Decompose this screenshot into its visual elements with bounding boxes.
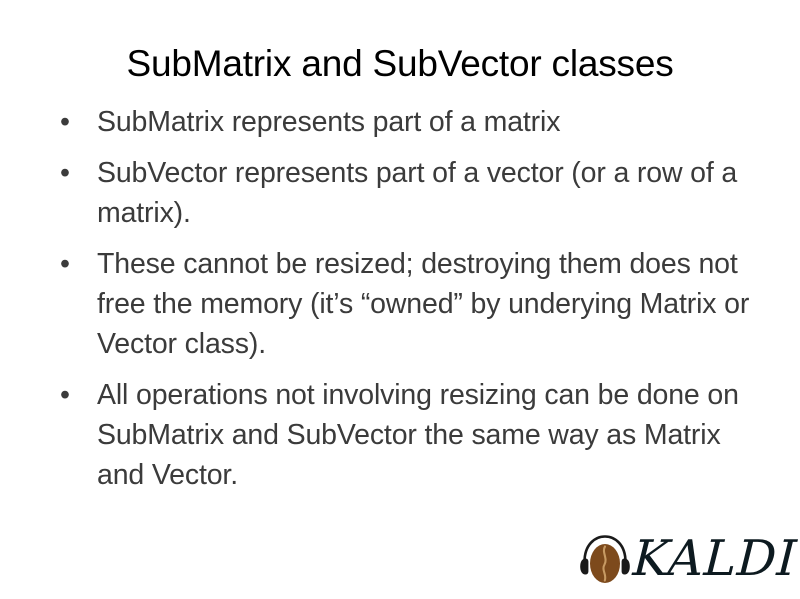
coffee-bean-headphones-icon <box>575 529 635 589</box>
list-item-text: All operations not involving resizing ca… <box>97 375 762 495</box>
bullet-point-icon: • <box>60 153 74 193</box>
presentation-slide: SubMatrix and SubVector classes • SubMat… <box>0 0 800 599</box>
kaldi-wordmark: KALDI <box>632 533 798 585</box>
list-item-text: SubMatrix represents part of a matrix <box>97 102 762 142</box>
bullet-point-icon: • <box>60 375 74 415</box>
bullet-point-icon: • <box>60 102 74 142</box>
list-item: • All operations not involving resizing … <box>52 375 762 495</box>
page-title: SubMatrix and SubVector classes <box>40 41 760 87</box>
kaldi-logo: KALDI <box>575 528 780 590</box>
bullet-list: • SubMatrix represents part of a matrix … <box>52 102 762 495</box>
list-item: • These cannot be resized; destroying th… <box>52 244 762 364</box>
list-item-text: These cannot be resized; destroying them… <box>97 244 762 364</box>
bullet-point-icon: • <box>60 244 74 284</box>
list-item-text: SubVector represents part of a vector (o… <box>97 153 762 233</box>
list-item: • SubVector represents part of a vector … <box>52 153 762 233</box>
list-item: • SubMatrix represents part of a matrix <box>52 102 762 142</box>
